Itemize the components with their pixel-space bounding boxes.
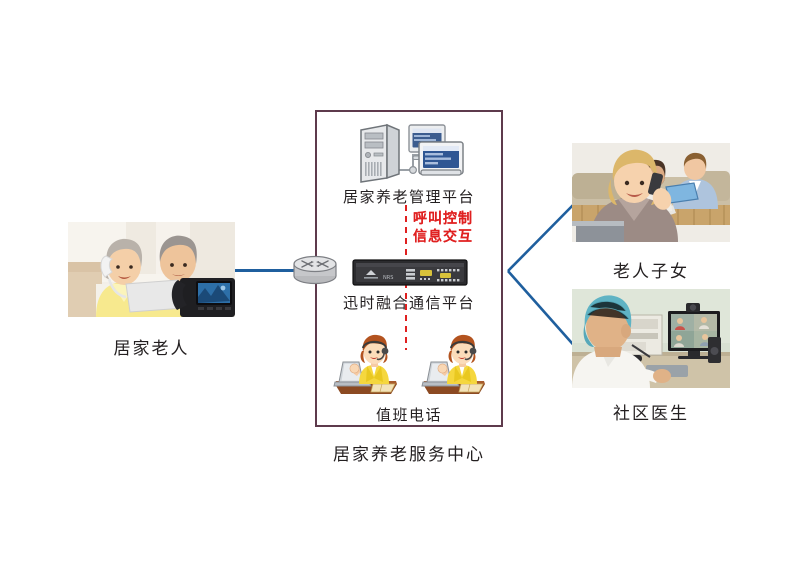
service-center-caption: 居家养老服务中心 [305,440,513,465]
svg-text:NRS: NRS [383,275,393,281]
community-doctor-label: 社区医生 [572,399,730,424]
duty-phone-label: 值班电话 [315,404,503,425]
server-and-workstations-icon [355,122,467,184]
link-annotation: 呼叫控制 信息交互 [413,210,473,246]
elderly-children-label: 老人子女 [572,257,730,282]
annotation-line-1: 呼叫控制 [413,210,473,228]
diagram-canvas: 居家养老管理平台 呼叫控制 信息交互 NRS [0,0,800,570]
home-elderly-label: 居家老人 [68,334,235,359]
elderly-couple-with-ip-phone-photo [68,222,235,317]
doctor-at-video-terminal-photo [572,289,730,388]
link-elderly-to-router [233,269,295,272]
rackmount-gateway-icon: NRS [352,258,468,288]
ucs-platform-label: 迅时融合通信平台 [315,292,503,313]
router-icon [291,252,339,286]
management-platform-label: 居家养老管理平台 [315,186,503,207]
annotation-line-2: 信息交互 [413,228,473,246]
call-operators-icon [333,332,488,396]
woman-on-phone-with-family-photo [572,143,730,242]
